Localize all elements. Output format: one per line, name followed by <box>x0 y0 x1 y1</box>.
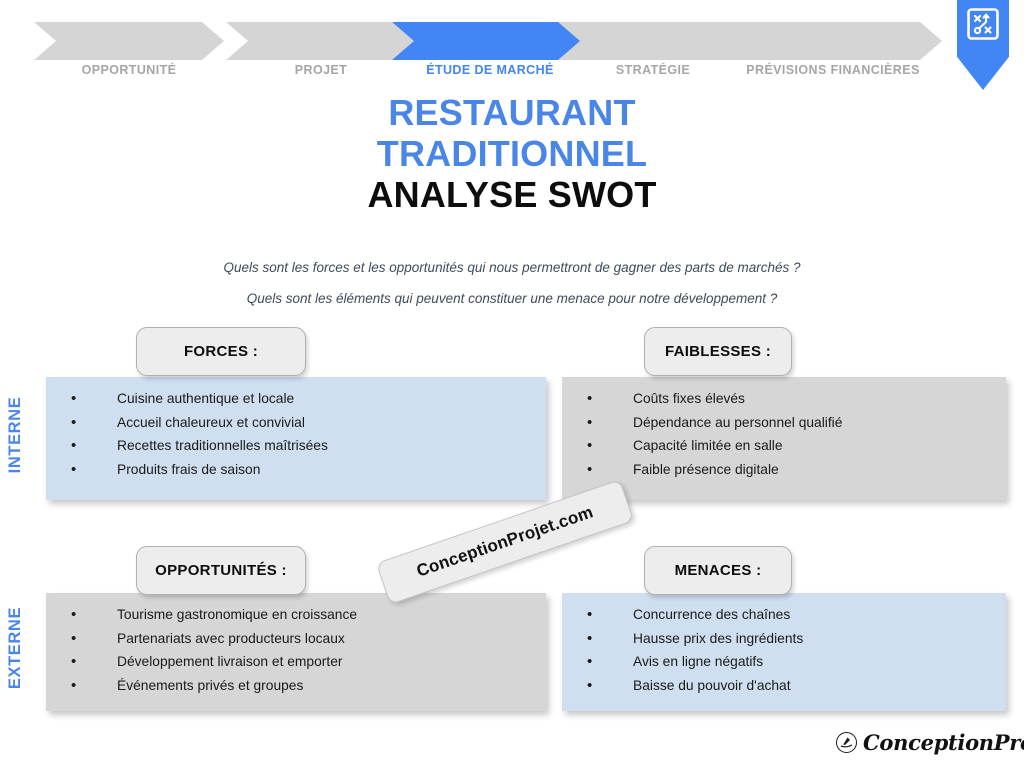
nav-chevron-opportunite[interactable] <box>34 22 224 60</box>
subtitle-line-2: Quels sont les éléments qui peuvent cons… <box>0 283 1024 314</box>
list-item-text: Baisse du pouvoir d'achat <box>633 678 791 693</box>
list-item-text: Dépendance au personnel qualifié <box>633 415 842 430</box>
bullet-icon: • <box>587 434 592 458</box>
list-item: •Capacité limitée en salle <box>562 434 1006 458</box>
list-item-text: Hausse prix des ingrédients <box>633 631 803 646</box>
title-line-1: RESTAURANT <box>0 92 1024 133</box>
bullet-icon: • <box>587 387 592 411</box>
title-line-2: TRADITIONNEL <box>0 133 1024 174</box>
list-item: •Cuisine authentique et locale <box>46 387 546 411</box>
list-item: •Avis en ligne négatifs <box>562 650 1006 674</box>
list-item-text: Événements privés et groupes <box>117 678 303 693</box>
axis-label-externe: EXTERNE <box>6 593 28 703</box>
list-item-text: Développement livraison et emporter <box>117 654 342 669</box>
list-item: •Accueil chaleureux et convivial <box>46 411 546 435</box>
axis-label-interne: INTERNE <box>6 380 28 490</box>
list-item: •Concurrence des chaînes <box>562 603 1006 627</box>
bullet-icon: • <box>71 603 76 627</box>
list-item: •Recettes traditionnelles maîtrisées <box>46 434 546 458</box>
process-step-navbar: OPPORTUNITÉ PROJET ÉTUDE DE MARCHÉ STRAT… <box>0 0 1024 90</box>
nav-label-previsions-financieres[interactable]: PRÉVISIONS FINANCIÈRES <box>714 60 952 80</box>
bullet-icon: • <box>587 627 592 651</box>
quadrant-header-faiblesses: FAIBLESSES : <box>644 327 792 376</box>
list-item-text: Avis en ligne négatifs <box>633 654 763 669</box>
quadrant-header-menaces: MENACES : <box>644 546 792 595</box>
bullet-icon: • <box>587 650 592 674</box>
title-line-3: ANALYSE SWOT <box>0 174 1024 215</box>
list-item-text: Faible présence digitale <box>633 462 779 477</box>
list-item: •Dépendance au personnel qualifié <box>562 411 1006 435</box>
bullet-icon: • <box>587 411 592 435</box>
list-item-text: Partenariats avec producteurs locaux <box>117 631 345 646</box>
quadrant-faiblesses: •Coûts fixes élevés •Dépendance au perso… <box>562 377 1006 500</box>
nav-chevron-previsions-financieres[interactable] <box>724 22 942 60</box>
bullet-icon: • <box>71 411 76 435</box>
nav-chevron-projet[interactable] <box>226 22 416 60</box>
opportunites-list: •Tourisme gastronomique en croissance •P… <box>46 603 546 697</box>
bullet-icon: • <box>71 434 76 458</box>
bullet-icon: • <box>587 458 592 482</box>
quadrant-menaces: •Concurrence des chaînes •Hausse prix de… <box>562 593 1006 711</box>
footer-brand-logo: ConceptionProjet <box>836 728 1024 756</box>
faiblesses-list: •Coûts fixes élevés •Dépendance au perso… <box>562 387 1006 481</box>
list-item: •Développement livraison et emporter <box>46 650 546 674</box>
list-item-text: Tourisme gastronomique en croissance <box>117 607 357 622</box>
nav-chevron-etude-de-marche[interactable] <box>392 22 582 60</box>
subtitle-line-1: Quels sont les forces et les opportunité… <box>0 252 1024 283</box>
page-title: RESTAURANT TRADITIONNEL ANALYSE SWOT <box>0 92 1024 215</box>
list-item: •Coûts fixes élevés <box>562 387 1006 411</box>
list-item: •Événements privés et groupes <box>46 674 546 698</box>
bullet-icon: • <box>71 674 76 698</box>
list-item: •Produits frais de saison <box>46 458 546 482</box>
pen-nib-circle-icon <box>836 732 857 753</box>
list-item: •Baisse du pouvoir d'achat <box>562 674 1006 698</box>
forces-list: •Cuisine authentique et locale •Accueil … <box>46 387 546 481</box>
bullet-icon: • <box>587 603 592 627</box>
list-item-text: Accueil chaleureux et convivial <box>117 415 305 430</box>
quadrant-opportunites: •Tourisme gastronomique en croissance •P… <box>46 593 546 711</box>
list-item: •Partenariats avec producteurs locaux <box>46 627 546 651</box>
list-item-text: Coûts fixes élevés <box>633 391 745 406</box>
swot-slide: OPPORTUNITÉ PROJET ÉTUDE DE MARCHÉ STRAT… <box>0 0 1024 768</box>
quadrant-forces: •Cuisine authentique et locale •Accueil … <box>46 377 546 500</box>
bullet-icon: • <box>71 650 76 674</box>
nav-chevron-strategie[interactable] <box>558 22 748 60</box>
footer-brand-text: ConceptionProjet <box>863 730 1024 755</box>
quadrant-header-opportunites: OPPORTUNITÉS : <box>136 546 306 595</box>
current-step-marker <box>957 0 1009 90</box>
subtitle-questions: Quels sont les forces et les opportunité… <box>0 252 1024 314</box>
bullet-icon: • <box>587 674 592 698</box>
strategy-playbook-icon <box>966 7 1000 41</box>
bullet-icon: • <box>71 458 76 482</box>
bullet-icon: • <box>71 387 76 411</box>
list-item-text: Concurrence des chaînes <box>633 607 790 622</box>
menaces-list: •Concurrence des chaînes •Hausse prix de… <box>562 603 1006 697</box>
list-item-text: Capacité limitée en salle <box>633 438 783 453</box>
bullet-icon: • <box>71 627 76 651</box>
list-item-text: Cuisine authentique et locale <box>117 391 294 406</box>
list-item: •Faible présence digitale <box>562 458 1006 482</box>
list-item: •Tourisme gastronomique en croissance <box>46 603 546 627</box>
list-item: •Hausse prix des ingrédients <box>562 627 1006 651</box>
list-item-text: Recettes traditionnelles maîtrisées <box>117 438 328 453</box>
quadrant-header-forces: FORCES : <box>136 327 306 376</box>
list-item-text: Produits frais de saison <box>117 462 260 477</box>
nav-label-opportunite[interactable]: OPPORTUNITÉ <box>34 60 224 80</box>
